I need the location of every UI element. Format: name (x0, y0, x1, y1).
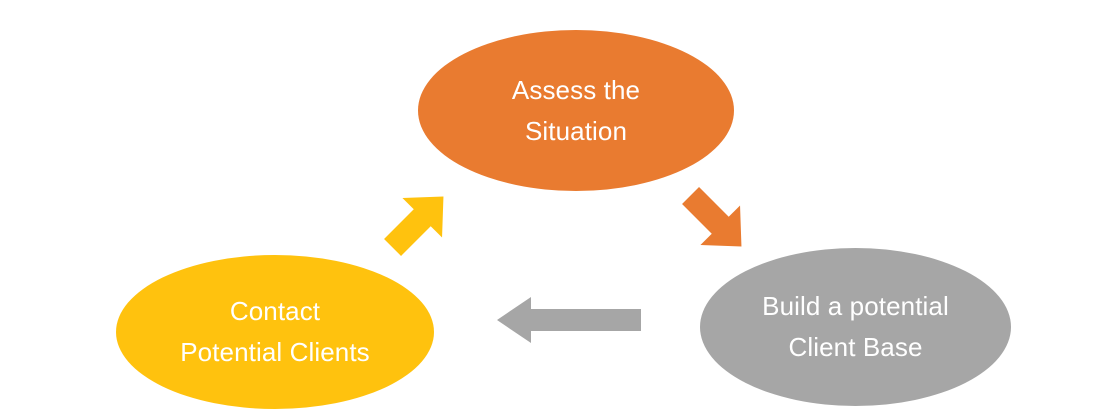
arrow-assess-to-build[interactable] (678, 185, 754, 257)
block-arrow-down-right-icon (678, 185, 754, 257)
diagram-canvas: Assess the Situation Build a potential C… (0, 0, 1108, 418)
node-build-label: Build a potential Client Base (744, 286, 967, 368)
arrow-build-to-contact[interactable] (493, 293, 645, 347)
block-arrow-left-icon (493, 293, 645, 347)
node-assess-label: Assess the Situation (494, 70, 658, 152)
block-arrow-up-right-icon (378, 186, 458, 258)
node-contact-potential-clients[interactable]: Contact Potential Clients (116, 255, 434, 409)
arrow-contact-to-assess[interactable] (378, 186, 458, 258)
node-contact-label: Contact Potential Clients (162, 291, 388, 373)
node-assess-the-situation[interactable]: Assess the Situation (418, 30, 734, 191)
node-build-a-potential-client-base[interactable]: Build a potential Client Base (700, 248, 1011, 406)
